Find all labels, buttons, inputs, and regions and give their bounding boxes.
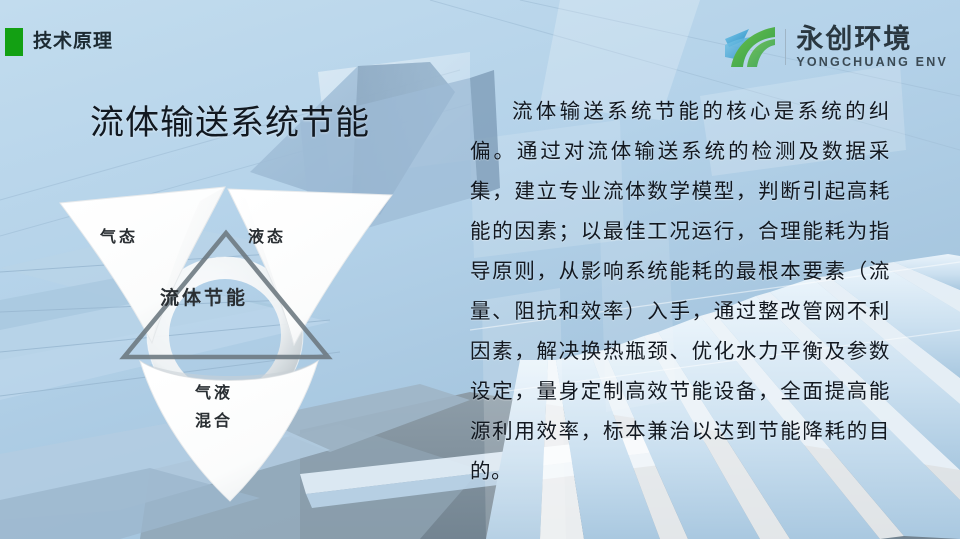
section-accent-chip <box>5 28 23 56</box>
node-label-mixed-line1: 气液 <box>195 380 233 408</box>
node-label-mixed-line2: 混合 <box>195 408 233 436</box>
logo-name-cn: 永创环境 <box>796 24 948 54</box>
node-label-mixed: 气液 混合 <box>195 380 233 436</box>
leaf-logo-icon <box>723 23 779 71</box>
section-tag-label: 技术原理 <box>33 29 113 55</box>
logo-name-en: YONGCHUANG ENV <box>796 55 948 70</box>
page-title: 流体输送系统节能 <box>90 100 370 146</box>
body-paragraph: 流体输送系统节能的核心是系统的纠偏。通过对流体输送系统的检测及数据采集，建立专业… <box>470 92 890 492</box>
logo-divider <box>785 29 786 65</box>
slide-canvas: 技术原理 <box>0 0 960 539</box>
node-label-gas: 气态 <box>100 223 138 247</box>
core-label: 流体节能 <box>160 283 248 310</box>
logo-wordmark: 永创环境 YONGCHUANG ENV <box>796 24 948 70</box>
company-logo: 永创环境 YONGCHUANG ENV <box>723 20 948 74</box>
node-label-liquid: 液态 <box>248 223 286 247</box>
fluid-energy-saving-diagram: 气态 液态 流体节能 气液 混合 <box>40 175 440 515</box>
